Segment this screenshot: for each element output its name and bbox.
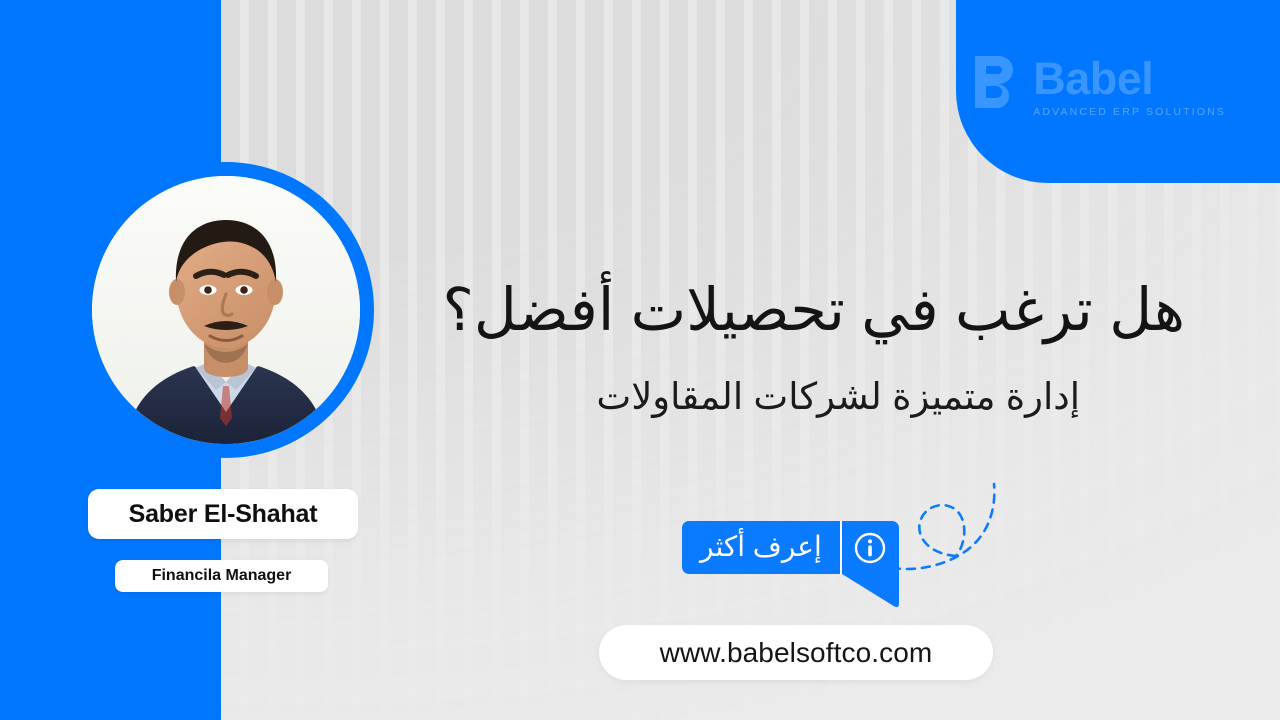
person-job-title: Financila Manager bbox=[152, 567, 292, 585]
promo-banner-canvas: Babel ADVANCED ERP SOLUTIONS bbox=[0, 0, 1280, 720]
babel-b-monogram-icon bbox=[973, 54, 1019, 110]
brand-logo: Babel ADVANCED ERP SOLUTIONS bbox=[973, 54, 1226, 119]
page-title: هل ترغب في تحصيلات أفضل؟ bbox=[385, 272, 1185, 348]
logo-tagline: ADVANCED ERP SOLUTIONS bbox=[1033, 105, 1226, 119]
portrait-photo bbox=[92, 176, 360, 444]
avatar bbox=[78, 162, 374, 458]
page-subtitle: إدارة متميزة لشركات المقاولات bbox=[380, 372, 1080, 422]
avatar-image-clip bbox=[92, 176, 360, 444]
website-url: www.babelsoftco.com bbox=[660, 637, 933, 669]
dashed-loop-swirl-icon bbox=[890, 468, 1030, 600]
info-circle-icon bbox=[853, 531, 887, 565]
logo-wordmark: Babel bbox=[1033, 56, 1153, 102]
person-name: Saber El-Shahat bbox=[129, 500, 318, 529]
logo-text-wrap: Babel ADVANCED ERP SOLUTIONS bbox=[1033, 54, 1226, 119]
person-title-card: Financila Manager bbox=[115, 560, 328, 592]
website-url-pill[interactable]: www.babelsoftco.com bbox=[599, 625, 993, 680]
learn-more-label[interactable]: إعرف أكثر bbox=[682, 521, 842, 574]
learn-more-button[interactable]: إعرف أكثر bbox=[682, 521, 899, 574]
person-name-card: Saber El-Shahat bbox=[88, 489, 358, 539]
